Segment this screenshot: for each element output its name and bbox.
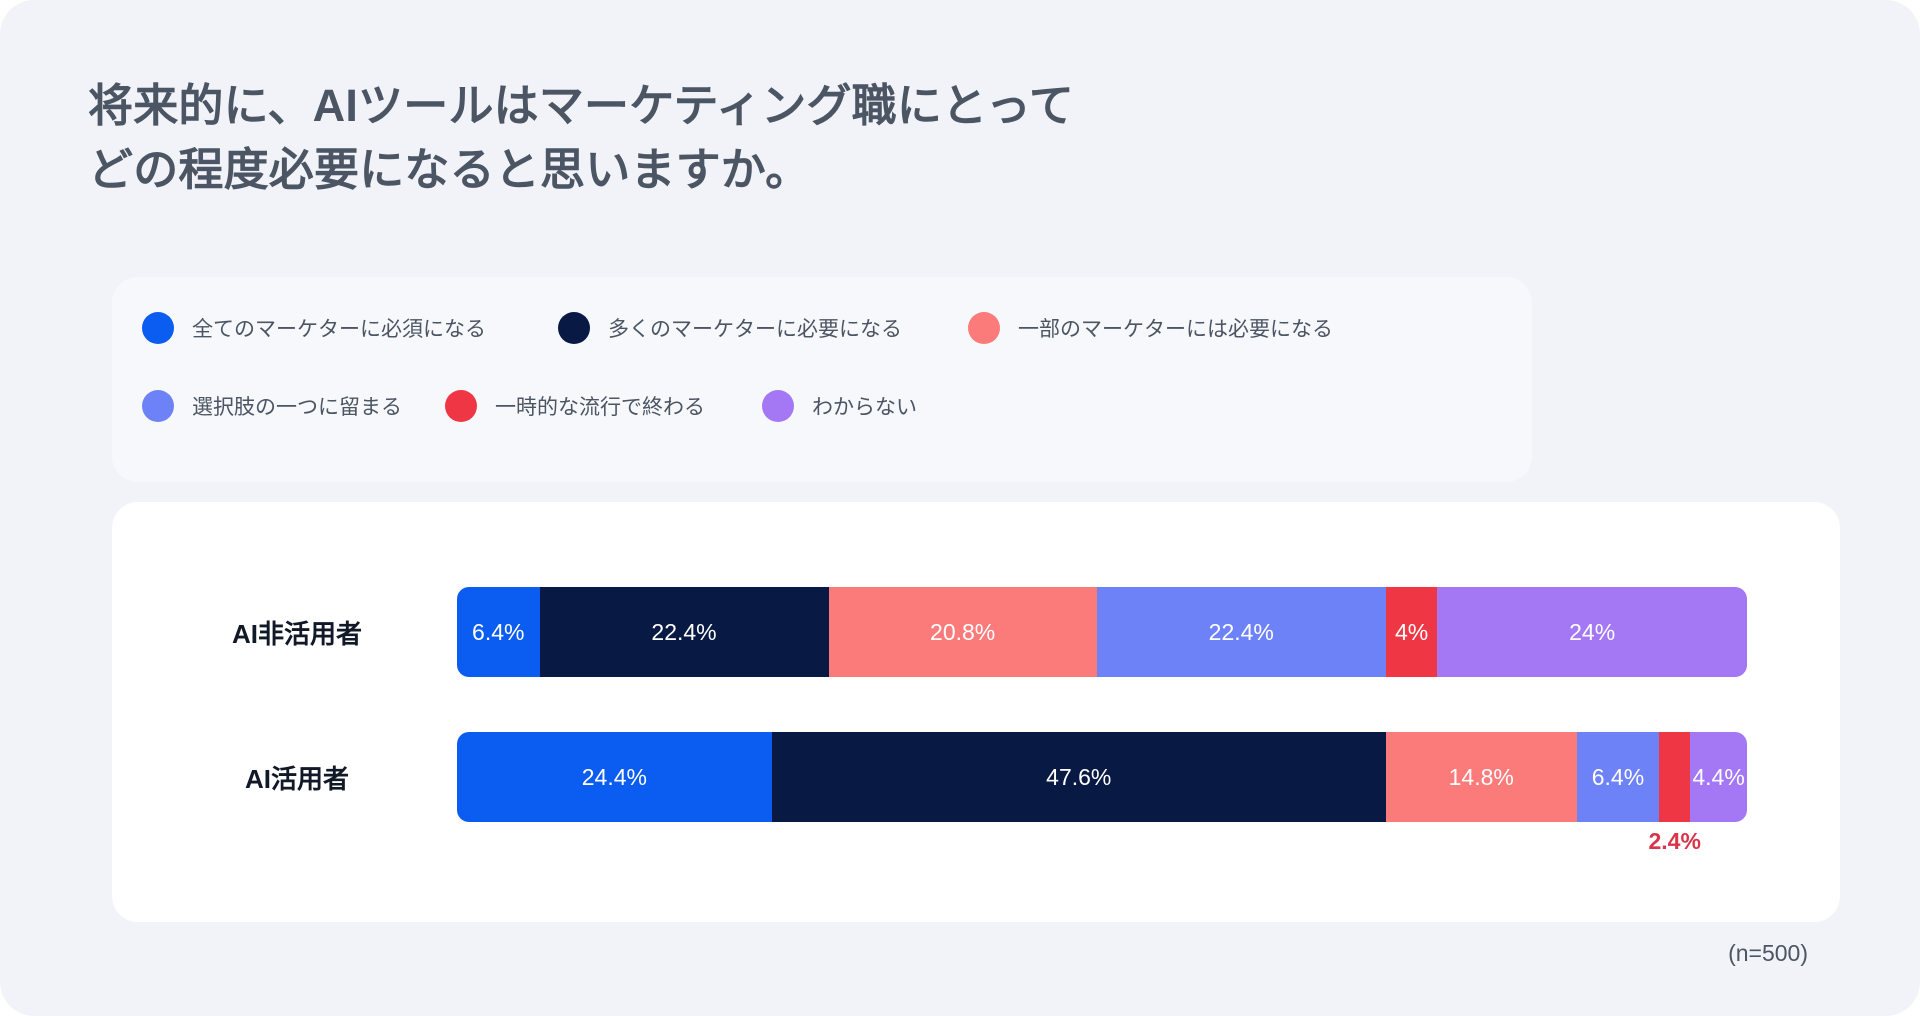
- bar-segment-value-label: 20.8%: [930, 619, 995, 646]
- legend-dot-icon: [142, 312, 174, 344]
- bar-category-label: AI活用者: [172, 727, 422, 827]
- bar-segment[interactable]: 2.4%: [1659, 732, 1690, 822]
- bar-segment[interactable]: 22.4%: [540, 587, 829, 677]
- bar-category-label: AI非活用者: [172, 582, 422, 682]
- chart-bar-row: AI非活用者6.4%22.4%20.8%22.4%4%24%: [112, 582, 1840, 682]
- stacked-bar-track: 6.4%22.4%20.8%22.4%4%24%: [457, 587, 1747, 677]
- legend-dot-icon: [968, 312, 1000, 344]
- legend-item[interactable]: 全てのマーケターに必須になる: [142, 307, 486, 349]
- bar-segment-value-label: 4.4%: [1692, 764, 1744, 791]
- chart-legend: 全てのマーケターに必須になる多くのマーケターに必要になる一部のマーケターには必要…: [112, 277, 1532, 482]
- bar-segment[interactable]: 47.6%: [772, 732, 1386, 822]
- legend-item[interactable]: 一時的な流行で終わる: [445, 385, 705, 427]
- legend-item-label: 全てのマーケターに必須になる: [192, 313, 486, 343]
- sample-size-footnote: (n=500): [1728, 940, 1808, 967]
- legend-item[interactable]: 多くのマーケターに必要になる: [558, 307, 902, 349]
- bar-segment-value-label: 22.4%: [651, 619, 716, 646]
- legend-dot-icon: [558, 312, 590, 344]
- bar-segment-value-label: 6.4%: [1592, 764, 1644, 791]
- legend-item-label: 多くのマーケターに必要になる: [608, 313, 902, 343]
- bar-segment[interactable]: 4%: [1386, 587, 1438, 677]
- legend-dot-icon: [445, 390, 477, 422]
- bar-segment-value-label: 22.4%: [1209, 619, 1274, 646]
- bar-segment-value-label: 24.4%: [582, 764, 647, 791]
- stacked-bar-track: 24.4%47.6%14.8%6.4%2.4%4.4%: [457, 732, 1747, 822]
- legend-dot-icon: [762, 390, 794, 422]
- bar-segment-value-label: 24%: [1569, 619, 1615, 646]
- legend-item-label: 一時的な流行で終わる: [495, 391, 705, 421]
- bar-segment[interactable]: 14.8%: [1386, 732, 1577, 822]
- bar-segment[interactable]: 20.8%: [829, 587, 1097, 677]
- bar-segment[interactable]: 4.4%: [1690, 732, 1747, 822]
- bar-segment-value-label: 2.4%: [1648, 828, 1700, 855]
- bar-segment-value-label: 14.8%: [1449, 764, 1514, 791]
- legend-item[interactable]: わからない: [762, 385, 917, 427]
- legend-row: 全てのマーケターに必須になる多くのマーケターに必要になる一部のマーケターには必要…: [112, 307, 1532, 349]
- chart-bar-row: AI活用者24.4%47.6%14.8%6.4%2.4%4.4%: [112, 727, 1840, 827]
- legend-item-label: 一部のマーケターには必要になる: [1018, 313, 1333, 343]
- legend-row: 選択肢の一つに留まる一時的な流行で終わるわからない: [112, 385, 1532, 427]
- bar-segment-value-label: 47.6%: [1046, 764, 1111, 791]
- legend-dot-icon: [142, 390, 174, 422]
- legend-item-label: 選択肢の一つに留まる: [192, 391, 402, 421]
- bar-segment[interactable]: 24%: [1437, 587, 1747, 677]
- bar-segment-value-label: 4%: [1395, 619, 1428, 646]
- slide-canvas: 将来的に、AIツールはマーケティング職にとって どの程度必要になると思いますか。…: [0, 0, 1920, 1016]
- bar-segment[interactable]: 6.4%: [457, 587, 540, 677]
- bar-segment[interactable]: 24.4%: [457, 732, 772, 822]
- page-title: 将来的に、AIツールはマーケティング職にとって どの程度必要になると思いますか。: [88, 74, 1488, 202]
- bar-segment-value-label: 6.4%: [472, 619, 524, 646]
- stacked-bar-chart: AI非活用者6.4%22.4%20.8%22.4%4%24% AI活用者24.4…: [112, 502, 1840, 922]
- bar-segment[interactable]: 6.4%: [1577, 732, 1660, 822]
- legend-item-label: わからない: [812, 391, 917, 421]
- legend-item[interactable]: 選択肢の一つに留まる: [142, 385, 402, 427]
- legend-item[interactable]: 一部のマーケターには必要になる: [968, 307, 1333, 349]
- bar-segment[interactable]: 22.4%: [1097, 587, 1386, 677]
